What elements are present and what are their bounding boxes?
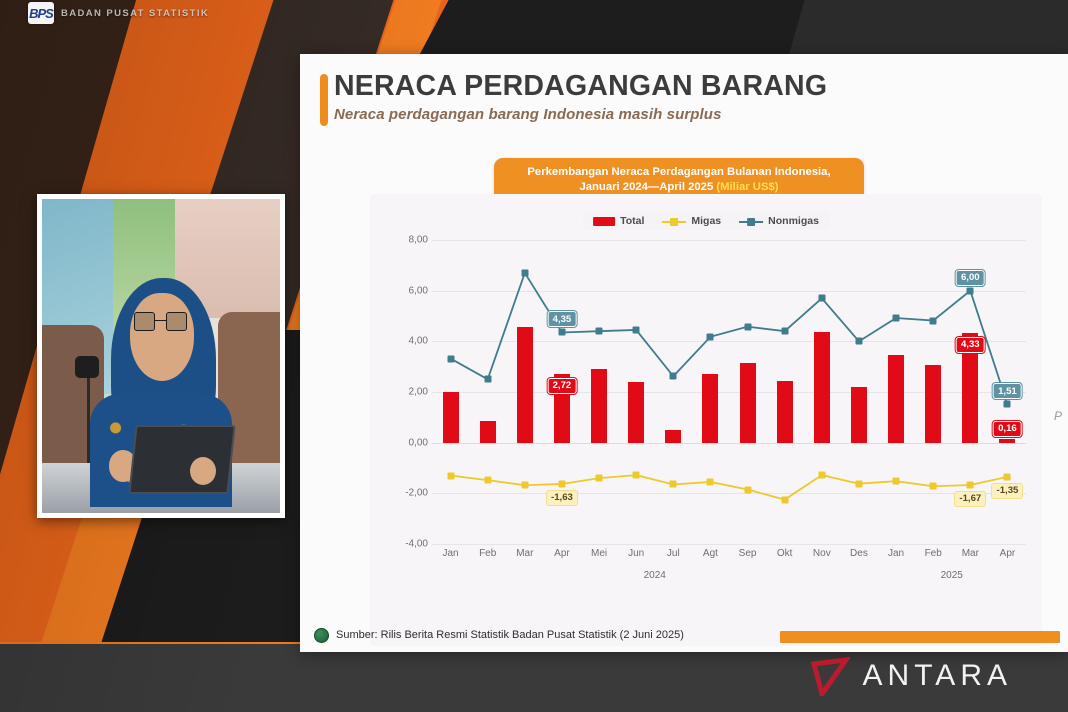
chart-column	[878, 240, 915, 544]
x-axis-tick-label: Des	[840, 548, 877, 568]
bar-total	[628, 382, 644, 442]
point-nonmigas	[447, 355, 454, 362]
bar-total	[443, 392, 459, 443]
x-axis-tick-label: Apr	[543, 548, 580, 568]
bps-agency-label: BADAN PUSAT STATISTIK	[61, 8, 209, 19]
data-label-total: 2,72	[548, 378, 577, 394]
bps-logo-bug: BPS BADAN PUSAT STATISTIK	[28, 2, 209, 24]
point-nonmigas	[670, 373, 677, 380]
point-nonmigas	[633, 326, 640, 333]
bar-total	[665, 430, 681, 443]
chart-title-period: Januari 2024—April 2025	[579, 181, 716, 193]
laptop-device	[129, 425, 236, 494]
chart-column	[506, 240, 543, 544]
chart-column	[655, 240, 692, 544]
globe-icon	[314, 628, 329, 643]
bps-logo-icon: BPS	[28, 2, 54, 24]
data-label-nonmigas: 4,35	[548, 311, 577, 327]
chart-title-line1: Perkembangan Neraca Perdagangan Bulanan …	[527, 165, 830, 180]
legend-item-migas: Migas	[662, 215, 721, 227]
plot-area: 4,352,72-1,636,004,33-1,671,510,16-1,35	[432, 240, 1026, 544]
x-axis-tick-label: Feb	[469, 548, 506, 568]
presenter-face	[130, 293, 194, 381]
data-label-migas: -1,35	[992, 483, 1024, 499]
chart-column	[432, 240, 469, 544]
antara-logo-icon	[810, 656, 850, 696]
chart-column	[469, 240, 506, 544]
bar-total	[777, 381, 793, 443]
chart-column	[803, 240, 840, 544]
y-axis: 8,006,004,002,000,00-2,00-4,00	[382, 240, 428, 544]
data-label-nonmigas: 6,00	[956, 270, 985, 286]
chart-column	[729, 240, 766, 544]
point-migas	[521, 482, 528, 489]
x-axis-tick-label: Agt	[692, 548, 729, 568]
chart-column	[915, 240, 952, 544]
bar-total	[925, 365, 941, 442]
bar-total	[591, 369, 607, 442]
point-migas	[558, 480, 565, 487]
bar-total	[851, 387, 867, 443]
presentation-slide: NERACA PERDAGANGAN BARANG Neraca perdaga…	[300, 54, 1068, 652]
title-accent-bar	[320, 74, 328, 126]
data-columns	[432, 240, 1026, 544]
y-axis-tick-label: 2,00	[382, 387, 428, 398]
x-axis-year-label: 2024	[644, 570, 666, 581]
point-migas	[1004, 473, 1011, 480]
x-axis-tick-label: Nov	[803, 548, 840, 568]
x-axis-tick-label: Feb	[915, 548, 952, 568]
point-migas	[596, 475, 603, 482]
point-nonmigas	[893, 315, 900, 322]
legend-label-nonmigas: Nonmigas	[768, 215, 819, 227]
chart-column	[581, 240, 618, 544]
bar-total	[740, 363, 756, 443]
x-axis: JanFebMarAprMeiJunJulAgtSepOktNovDesJanF…	[432, 548, 1026, 568]
y-axis-tick-label: 4,00	[382, 336, 428, 347]
legend-item-nonmigas: Nonmigas	[739, 215, 819, 227]
chart-container: Total Migas Nonmigas 8,006,004,002,000,0…	[370, 194, 1042, 646]
broadcast-screenshot: BPS BADAN PUSAT STATISTIK	[0, 0, 1068, 712]
plot-area-wrapper: 8,006,004,002,000,00-2,00-4,00 4,352,72-…	[370, 240, 1042, 646]
legend-swatch-total-icon	[593, 217, 615, 226]
y-axis-tick-label: 8,00	[382, 235, 428, 246]
legend-swatch-nonmigas-icon	[739, 217, 763, 226]
data-label-migas: -1,67	[954, 491, 986, 507]
point-nonmigas	[744, 323, 751, 330]
slide-header: NERACA PERDAGANGAN BARANG Neraca perdaga…	[300, 54, 1068, 123]
data-label-total: 0,16	[993, 421, 1022, 437]
legend-label-migas: Migas	[691, 215, 721, 227]
presenter-video-frame	[42, 199, 280, 513]
eyeglasses-bridge	[155, 320, 166, 322]
bar-total	[517, 327, 533, 442]
data-label-nonmigas: 1,51	[993, 383, 1022, 399]
point-nonmigas	[855, 338, 862, 345]
source-text: Sumber: Rilis Berita Resmi Statistik Bad…	[336, 629, 684, 641]
data-label-migas: -1,63	[546, 490, 578, 506]
point-nonmigas	[967, 287, 974, 294]
presenter-hand-right	[190, 457, 216, 485]
point-nonmigas	[484, 376, 491, 383]
chart-legend: Total Migas Nonmigas	[583, 212, 829, 230]
chart-title-line2: Januari 2024—April 2025 (Miliar US$)	[579, 180, 778, 195]
x-axis-tick-label: Jan	[878, 548, 915, 568]
bar-total	[888, 355, 904, 442]
point-migas	[744, 486, 751, 493]
x-axis-year-label: 2025	[941, 570, 963, 581]
antara-watermark: ANTARA	[810, 656, 1012, 696]
point-nonmigas	[818, 295, 825, 302]
x-axis-tick-label: Jul	[655, 548, 692, 568]
point-nonmigas	[930, 317, 937, 324]
point-migas	[670, 481, 677, 488]
point-migas	[967, 481, 974, 488]
slide-side-note: P	[1054, 409, 1062, 423]
chart-column	[692, 240, 729, 544]
x-axis-tick-label: Jan	[432, 548, 469, 568]
x-axis-tick-label: Mei	[581, 548, 618, 568]
point-nonmigas	[521, 269, 528, 276]
y-axis-tick-label: 6,00	[382, 285, 428, 296]
x-axis-tick-label: Mar	[952, 548, 989, 568]
presenter-video-tile	[37, 194, 285, 518]
point-nonmigas	[596, 328, 603, 335]
page-subtitle: Neraca perdagangan barang Indonesia masi…	[334, 106, 1068, 123]
point-migas	[930, 483, 937, 490]
bar-total	[480, 421, 496, 443]
data-label-total: 4,33	[956, 337, 985, 353]
point-nonmigas	[558, 329, 565, 336]
bar-total	[814, 332, 830, 442]
legend-item-total: Total	[593, 215, 644, 227]
gridline	[432, 544, 1026, 545]
point-migas	[633, 472, 640, 479]
x-axis-tick-label: Mar	[506, 548, 543, 568]
point-migas	[818, 472, 825, 479]
point-migas	[781, 496, 788, 503]
source-accent-bar	[780, 631, 1060, 643]
bar-total	[702, 374, 718, 443]
chart-column	[840, 240, 877, 544]
x-axis-tick-label: Jun	[618, 548, 655, 568]
point-migas	[707, 478, 714, 485]
chart-column	[618, 240, 655, 544]
point-migas	[447, 472, 454, 479]
y-axis-tick-label: -4,00	[382, 539, 428, 550]
eyeglasses-left-lens	[134, 312, 155, 331]
source-row: Sumber: Rilis Berita Resmi Statistik Bad…	[300, 618, 1068, 652]
chart-column	[766, 240, 803, 544]
chart-title-unit: (Miliar US$)	[716, 181, 778, 193]
x-axis-tick-label: Sep	[729, 548, 766, 568]
point-nonmigas	[781, 328, 788, 335]
bar-total	[999, 439, 1015, 443]
microphone-icon	[75, 356, 99, 378]
y-axis-tick-label: 0,00	[382, 437, 428, 448]
legend-label-total: Total	[620, 215, 644, 227]
point-migas	[484, 477, 491, 484]
point-nonmigas	[1004, 401, 1011, 408]
legend-swatch-migas-icon	[662, 217, 686, 226]
point-migas	[855, 480, 862, 487]
x-axis-year-row: 20242025	[432, 570, 1026, 588]
point-migas	[893, 478, 900, 485]
page-title: NERACA PERDAGANGAN BARANG	[334, 72, 1068, 102]
y-axis-tick-label: -2,00	[382, 488, 428, 499]
x-axis-tick-label: Okt	[766, 548, 803, 568]
eyeglasses-right-lens	[166, 312, 187, 331]
microphone-stand	[87, 369, 90, 463]
antara-wordmark: ANTARA	[863, 659, 1012, 693]
point-nonmigas	[707, 333, 714, 340]
x-axis-tick-label: Apr	[989, 548, 1026, 568]
